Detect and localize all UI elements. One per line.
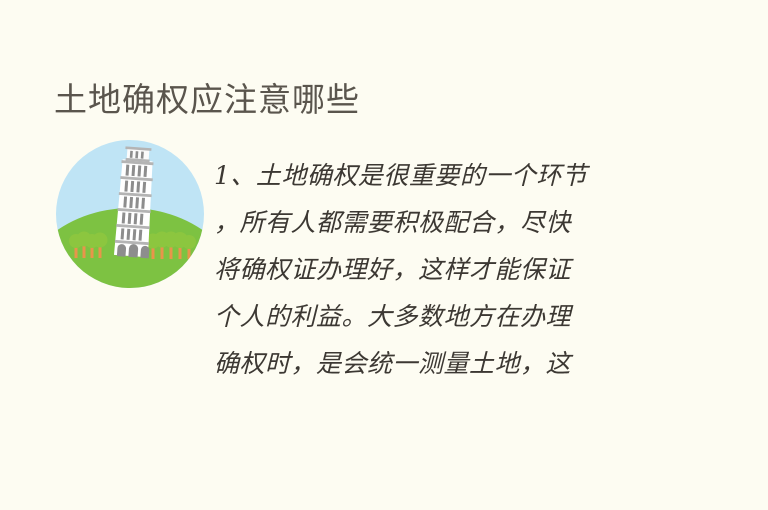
body-line: 将确权证办理好，这样才能保证 bbox=[214, 246, 660, 293]
body-line: ，所有人都需要积极配合，尽快 bbox=[214, 199, 660, 246]
pisa-tower-illustration bbox=[56, 140, 204, 288]
article-body: 1、土地确权是很重要的一个环节 ，所有人都需要积极配合，尽快 将确权证办理好，这… bbox=[214, 152, 660, 387]
body-line: 确权时，是会统一测量土地，这 bbox=[214, 340, 660, 387]
article-page: 土地确权应注意哪些 bbox=[0, 0, 768, 510]
body-line: 1、土地确权是很重要的一个环节 bbox=[214, 152, 660, 199]
pisa-tower-svg bbox=[56, 140, 204, 288]
body-line: 个人的利益。大多数地方在办理 bbox=[214, 293, 660, 340]
tree-group-right bbox=[146, 232, 197, 260]
page-title: 土地确权应注意哪些 bbox=[54, 78, 360, 122]
